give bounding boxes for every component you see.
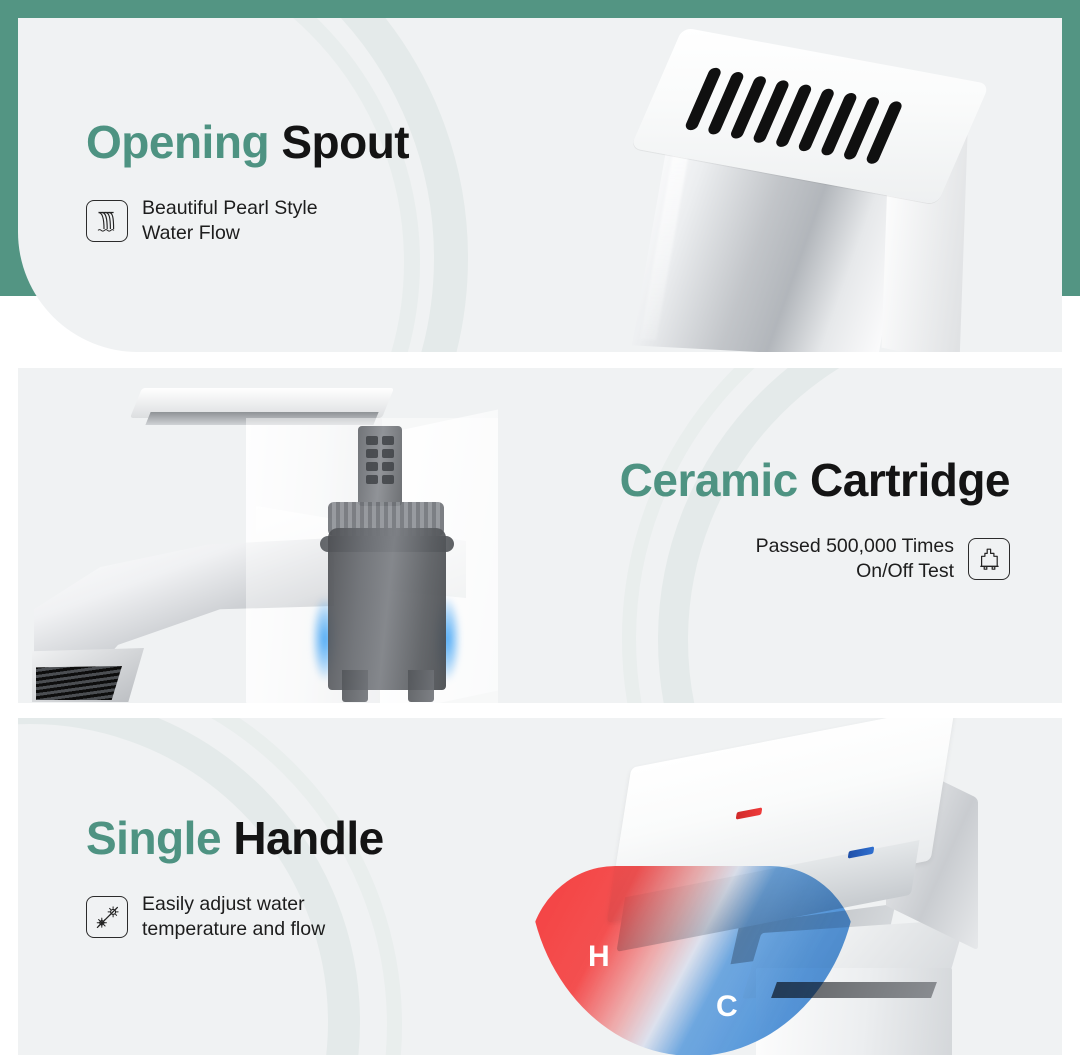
hot-label: H bbox=[588, 940, 610, 974]
ceramic-cartridge-icon bbox=[968, 538, 1010, 580]
panel-opening-spout: Opening Spout Beautiful Pearl Style Wate… bbox=[18, 18, 1062, 352]
faucet-spout-grill bbox=[36, 666, 122, 700]
headline-dark: Handle bbox=[233, 812, 383, 864]
ceramic-cartridge-body bbox=[328, 528, 446, 690]
panel-3-text-block: Single Handle Easily adjust water t bbox=[86, 814, 384, 942]
infographic-sheet: Opening Spout Beautiful Pearl Style Wate… bbox=[0, 0, 1080, 1055]
feature-text-water-flow: Beautiful Pearl Style Water Flow bbox=[142, 196, 318, 246]
water-flow-icon bbox=[86, 200, 128, 242]
feature-row-onoff-test: Passed 500,000 Times On/Off Test bbox=[620, 534, 1010, 584]
cartridge-feet bbox=[342, 670, 434, 702]
panel-2-text-block: Ceramic Cartridge Passed 500,000 Times O… bbox=[620, 456, 1010, 584]
panel-ceramic-cartridge: Ceramic Cartridge Passed 500,000 Times O… bbox=[18, 368, 1062, 703]
panel-1-text-block: Opening Spout Beautiful Pearl Style Wate… bbox=[86, 118, 409, 246]
feature-row-water-flow: Beautiful Pearl Style Water Flow bbox=[86, 196, 409, 246]
feature-row-temperature: Easily adjust water temperature and flow bbox=[86, 892, 384, 942]
page-title-ceramic-cartridge: Ceramic Cartridge bbox=[620, 456, 1010, 504]
faucet-handle-hot-cold-photo: H C bbox=[488, 718, 1062, 1055]
faucet-cutaway-cartridge-photo bbox=[28, 370, 588, 703]
page-title-single-handle: Single Handle bbox=[86, 814, 384, 862]
headline-dark: Spout bbox=[281, 116, 409, 168]
headline-accent: Single bbox=[86, 812, 221, 864]
page-title-opening-spout: Opening Spout bbox=[86, 118, 409, 166]
cartridge-stem-holes bbox=[366, 436, 394, 492]
feature-text-onoff-test: Passed 500,000 Times On/Off Test bbox=[756, 534, 954, 584]
temperature-sun-snowflake-icon bbox=[86, 896, 128, 938]
headline-accent: Ceramic bbox=[620, 454, 798, 506]
headline-dark: Cartridge bbox=[810, 454, 1010, 506]
headline-accent: Opening bbox=[86, 116, 269, 168]
feature-text-temperature: Easily adjust water temperature and flow bbox=[142, 892, 325, 942]
cold-label: C bbox=[716, 990, 738, 1024]
panel-single-handle: H C Single Handle bbox=[18, 718, 1062, 1055]
faucet-spout-outlet-photo bbox=[618, 40, 1038, 352]
